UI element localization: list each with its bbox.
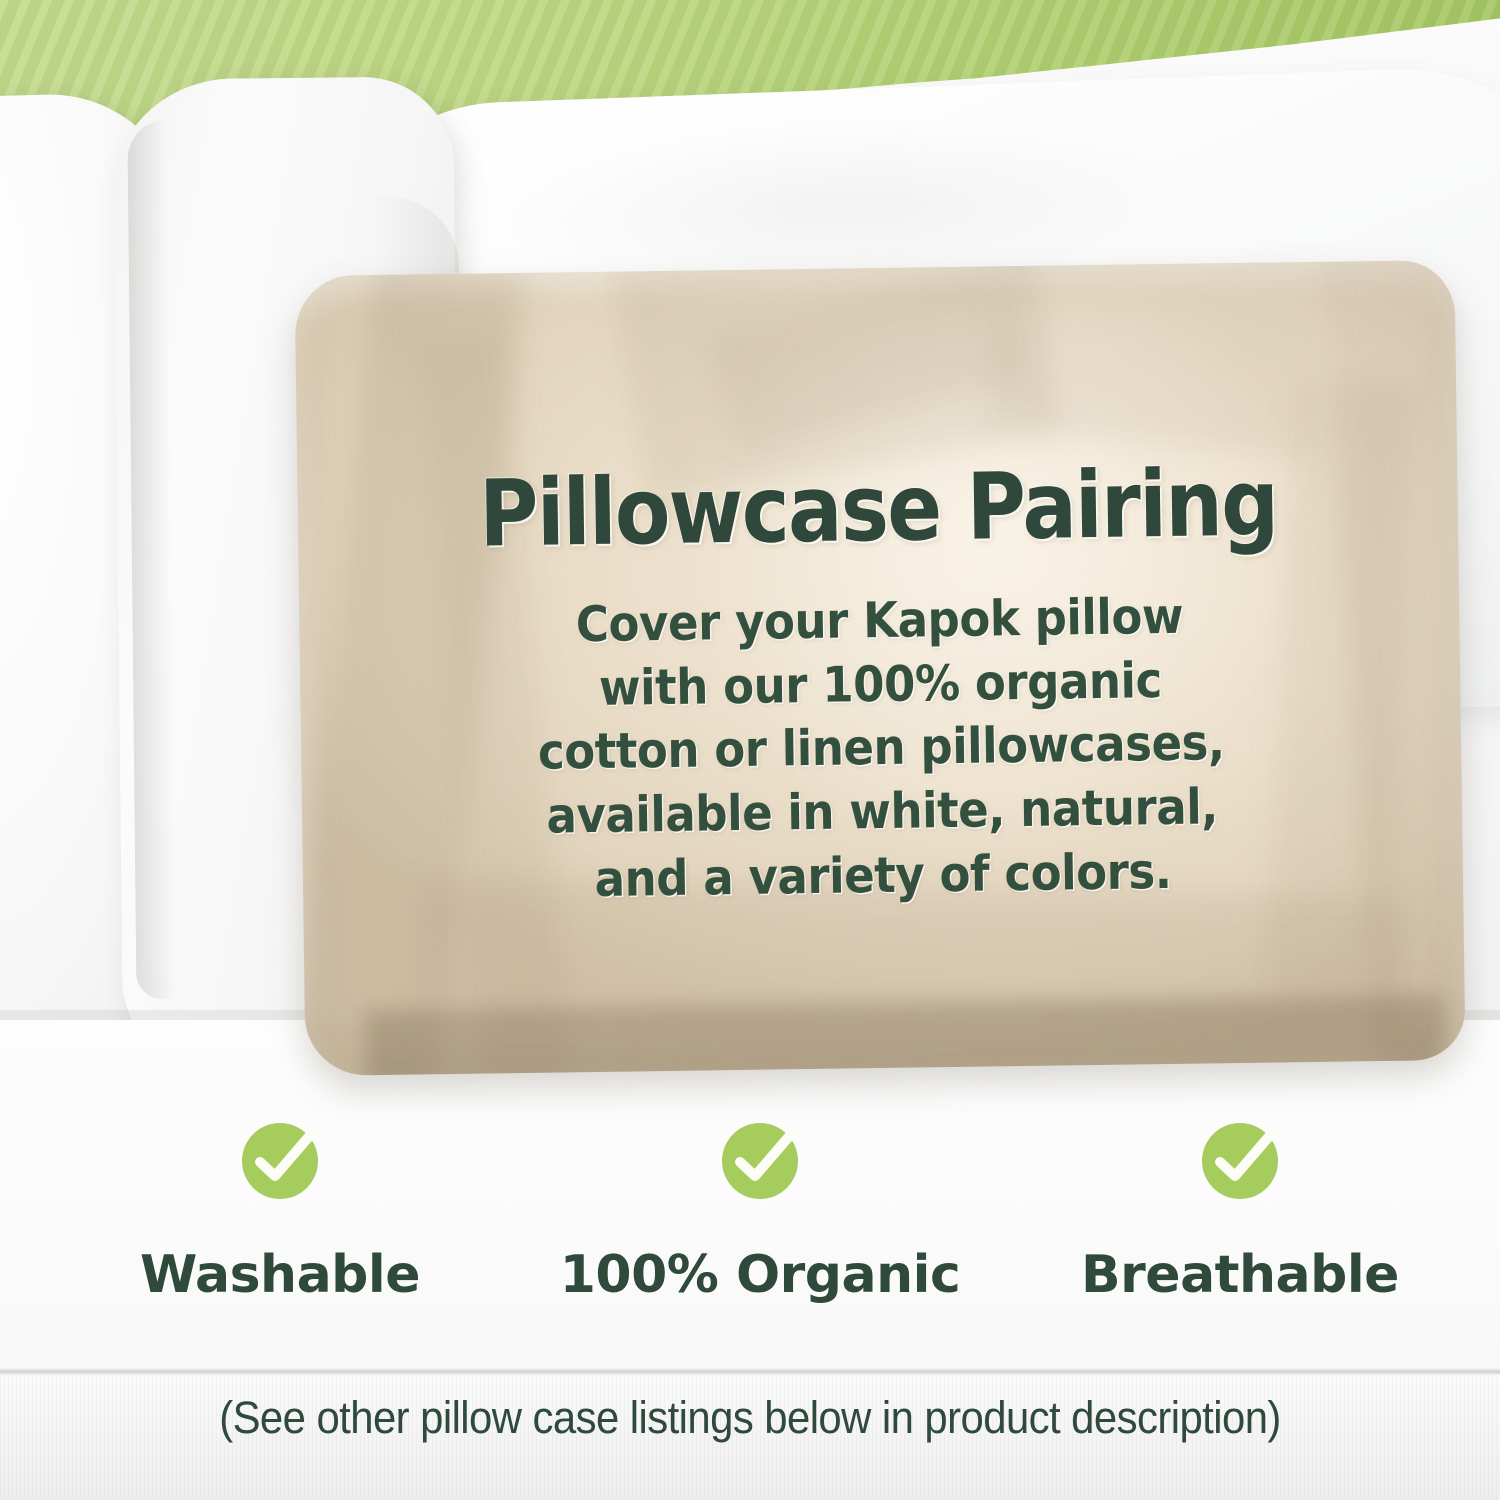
check-circle-icon [716, 1115, 804, 1203]
feature-breathable: Breathable [1030, 1115, 1450, 1305]
feature-label: Washable [140, 1245, 420, 1305]
feature-label: 100% Organic [560, 1245, 961, 1305]
check-circle-icon [1196, 1115, 1284, 1203]
feature-badge-row: Washable 100% Organic Breathable [70, 1115, 1450, 1305]
pillow-fold [987, 260, 1335, 459]
product-image-canvas: Pillowcase Pairing Cover your Kapok pill… [0, 0, 1500, 1500]
footnote-caption: (See other pillow case listings below in… [53, 1392, 1448, 1444]
mattress-seam-line [0, 1368, 1500, 1376]
natural-cotton-pillow [294, 260, 1465, 1076]
check-circle-icon [236, 1115, 324, 1203]
feature-label: Breathable [1081, 1245, 1399, 1305]
feature-washable: Washable [70, 1115, 490, 1305]
feature-organic: 100% Organic [550, 1115, 970, 1305]
